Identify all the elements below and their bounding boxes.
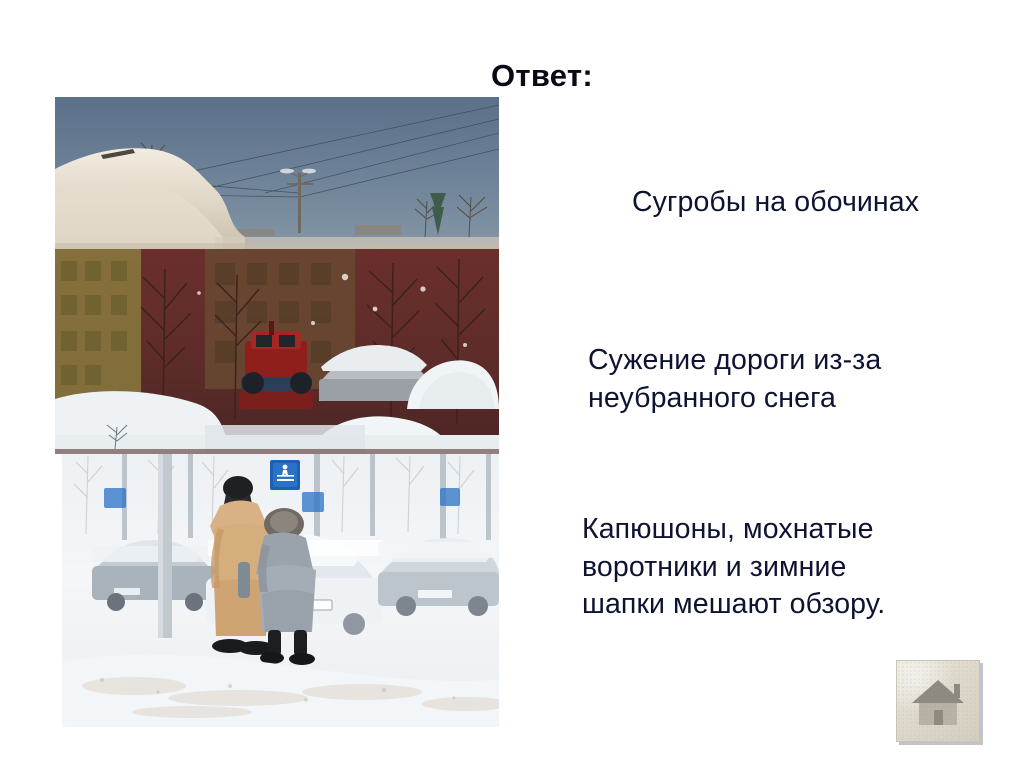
answer-line: шапки мешают обзору.	[582, 586, 1002, 624]
photo-snowplow-street	[55, 249, 499, 454]
answer-line: воротники и зимние	[582, 549, 1002, 587]
photo-collage	[55, 97, 499, 727]
answer-text-block-3: Капюшоны, мохнатые воротники и зимние ша…	[582, 511, 1002, 624]
slide-root: Ответ:	[0, 0, 1024, 767]
page-title: Ответ:	[22, 58, 1002, 94]
answer-line: Капюшоны, мохнатые	[582, 511, 1002, 549]
answer-line: Сугробы на обочинах	[632, 184, 1002, 222]
home-icon	[910, 675, 966, 727]
photo-snow-pile	[55, 97, 499, 249]
answer-text-block-1: Сугробы на обочинах	[632, 184, 1002, 222]
home-button[interactable]	[896, 660, 980, 742]
photo-pedestrians-crossing	[62, 454, 499, 727]
answer-line: неубранного снега	[588, 380, 988, 418]
slide-canvas: Ответ:	[22, 14, 1002, 754]
answer-text-block-2: Сужение дороги из-за неубранного снега	[588, 342, 988, 417]
answer-line: Сужение дороги из-за	[588, 342, 988, 380]
